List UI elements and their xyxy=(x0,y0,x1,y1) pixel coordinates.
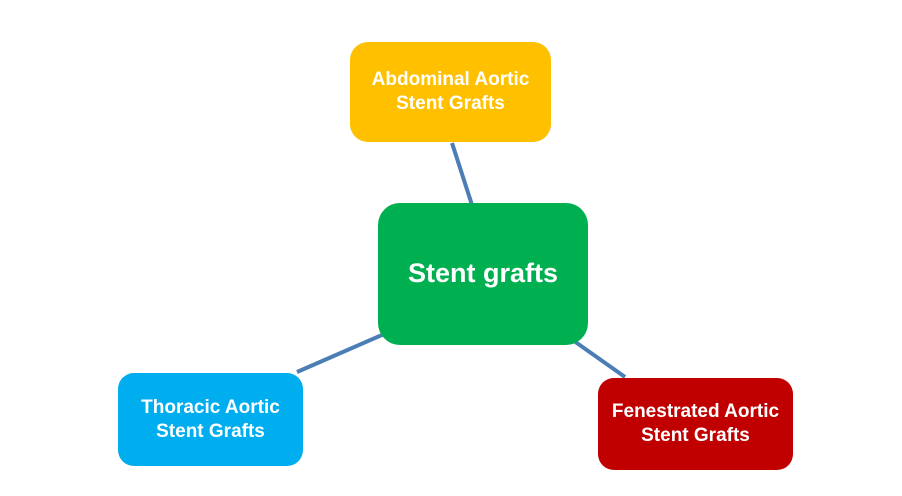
node-label: Thoracic Aortic Stent Grafts xyxy=(126,396,295,444)
diagram-canvas: Abdominal Aortic Stent Grafts Stent graf… xyxy=(0,0,902,496)
connector-abdominal-to-central xyxy=(452,143,472,205)
node-stent-grafts-central[interactable]: Stent grafts xyxy=(378,203,588,345)
connector-central-to-fenestrated xyxy=(574,341,625,377)
node-label: Fenestrated Aortic Stent Grafts xyxy=(606,400,785,448)
node-abdominal-aortic-stent-grafts[interactable]: Abdominal Aortic Stent Grafts xyxy=(350,42,551,142)
connector-thoracic-to-central xyxy=(297,335,382,372)
node-fenestrated-aortic-stent-grafts[interactable]: Fenestrated Aortic Stent Grafts xyxy=(598,378,793,470)
node-label: Abdominal Aortic Stent Grafts xyxy=(358,68,543,116)
node-label: Stent grafts xyxy=(386,257,580,291)
node-thoracic-aortic-stent-grafts[interactable]: Thoracic Aortic Stent Grafts xyxy=(118,373,303,466)
